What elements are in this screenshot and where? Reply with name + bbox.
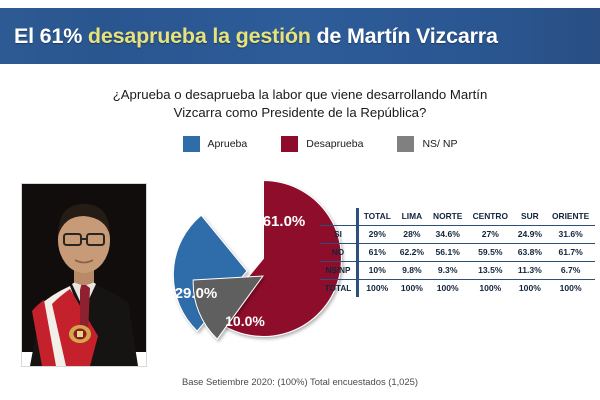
source-note: Base Setiembre 2020: (100%) Total encues… bbox=[0, 376, 600, 387]
header-banner: El 61% desaprueba la gestión de Martín V… bbox=[0, 8, 600, 64]
table-cell: 24.9% bbox=[514, 226, 547, 244]
table-cell: 59.5% bbox=[467, 244, 513, 262]
results-table: TOTAL LIMA NORTE CENTRO SUR ORIENTE SI 2… bbox=[320, 208, 595, 297]
table-cell: 62.2% bbox=[396, 244, 429, 262]
table-col-rowlabel bbox=[320, 208, 358, 226]
table-col-lima: LIMA bbox=[396, 208, 429, 226]
table-cell: 27% bbox=[467, 226, 513, 244]
presidential-portrait bbox=[22, 184, 146, 366]
table-col-norte: NORTE bbox=[428, 208, 467, 226]
table-header: TOTAL LIMA NORTE CENTRO SUR ORIENTE bbox=[320, 208, 595, 226]
table-cell: 56.1% bbox=[428, 244, 467, 262]
legend-swatch-nsnp bbox=[397, 136, 414, 152]
table-rowlabel-nsnp: NS/NP bbox=[320, 262, 358, 280]
portrait-illustration bbox=[22, 184, 146, 366]
table-rowlabel-no: NO bbox=[320, 244, 358, 262]
banner-title-suffix: de Martín Vizcarra bbox=[311, 24, 498, 48]
table-cell: 34.6% bbox=[428, 226, 467, 244]
table-row: NO 61% 62.2% 56.1% 59.5% 63.8% 61.7% bbox=[320, 244, 595, 262]
table-cell: 31.6% bbox=[546, 226, 595, 244]
legend-label-aprueba: Aprueba bbox=[208, 138, 248, 150]
table-cell: 28% bbox=[396, 226, 429, 244]
table-cell: 61.7% bbox=[546, 244, 595, 262]
table-cell: 11.3% bbox=[514, 262, 547, 280]
table-cell: 100% bbox=[546, 280, 595, 298]
pie-label-nsnp: 10.0% bbox=[225, 313, 265, 329]
table-cell: 100% bbox=[467, 280, 513, 298]
banner-title-highlight: desaprueba la gestión bbox=[88, 24, 311, 48]
results-table-container: TOTAL LIMA NORTE CENTRO SUR ORIENTE SI 2… bbox=[320, 208, 595, 297]
table-cell: 9.3% bbox=[428, 262, 467, 280]
table-row: SI 29% 28% 34.6% 27% 24.9% 31.6% bbox=[320, 226, 595, 244]
table-col-centro: CENTRO bbox=[467, 208, 513, 226]
table-cell: 29% bbox=[358, 226, 396, 244]
table-cell: 100% bbox=[428, 280, 467, 298]
banner-title-prefix: El 61% bbox=[14, 24, 88, 48]
table-rowlabel-total: TOTAL bbox=[320, 280, 358, 298]
table-col-sur: SUR bbox=[514, 208, 547, 226]
table-col-oriente: ORIENTE bbox=[546, 208, 595, 226]
legend-item-aprueba: Aprueba bbox=[183, 136, 248, 152]
table-cell: 100% bbox=[396, 280, 429, 298]
legend-label-desaprueba: Desaprueba bbox=[306, 138, 363, 150]
table-cell: 13.5% bbox=[467, 262, 513, 280]
legend-item-desaprueba: Desaprueba bbox=[281, 136, 363, 152]
table-col-total: TOTAL bbox=[358, 208, 396, 226]
table-cell: 63.8% bbox=[514, 244, 547, 262]
table-cell: 61% bbox=[358, 244, 396, 262]
chart-question-line-1: ¿Aprueba o desaprueba la labor que viene… bbox=[90, 86, 510, 104]
chart-question: ¿Aprueba o desaprueba la labor que viene… bbox=[90, 86, 510, 122]
page-title: El 61% desaprueba la gestión de Martín V… bbox=[14, 24, 498, 49]
table-cell: 6.7% bbox=[546, 262, 595, 280]
legend-item-nsnp: NS/ NP bbox=[397, 136, 457, 152]
pie-label-aprueba: 29.0% bbox=[175, 285, 218, 302]
table-cell: 100% bbox=[358, 280, 396, 298]
table-cell: 10% bbox=[358, 262, 396, 280]
legend-swatch-aprueba bbox=[183, 136, 200, 152]
table-row: TOTAL 100% 100% 100% 100% 100% 100% bbox=[320, 280, 595, 298]
table-row: NS/NP 10% 9.8% 9.3% 13.5% 11.3% 6.7% bbox=[320, 262, 595, 280]
legend-label-nsnp: NS/ NP bbox=[422, 138, 457, 150]
chart-legend: Aprueba Desaprueba NS/ NP bbox=[150, 136, 490, 152]
table-header-row: TOTAL LIMA NORTE CENTRO SUR ORIENTE bbox=[320, 208, 595, 226]
table-rowlabel-si: SI bbox=[320, 226, 358, 244]
legend-swatch-desaprueba bbox=[281, 136, 298, 152]
pie-label-desaprueba: 61.0% bbox=[263, 213, 306, 230]
table-body: SI 29% 28% 34.6% 27% 24.9% 31.6% NO 61% … bbox=[320, 226, 595, 298]
table-cell: 100% bbox=[514, 280, 547, 298]
chart-question-line-2: Vizcarra como Presidente de la República… bbox=[90, 104, 510, 122]
table-cell: 9.8% bbox=[396, 262, 429, 280]
